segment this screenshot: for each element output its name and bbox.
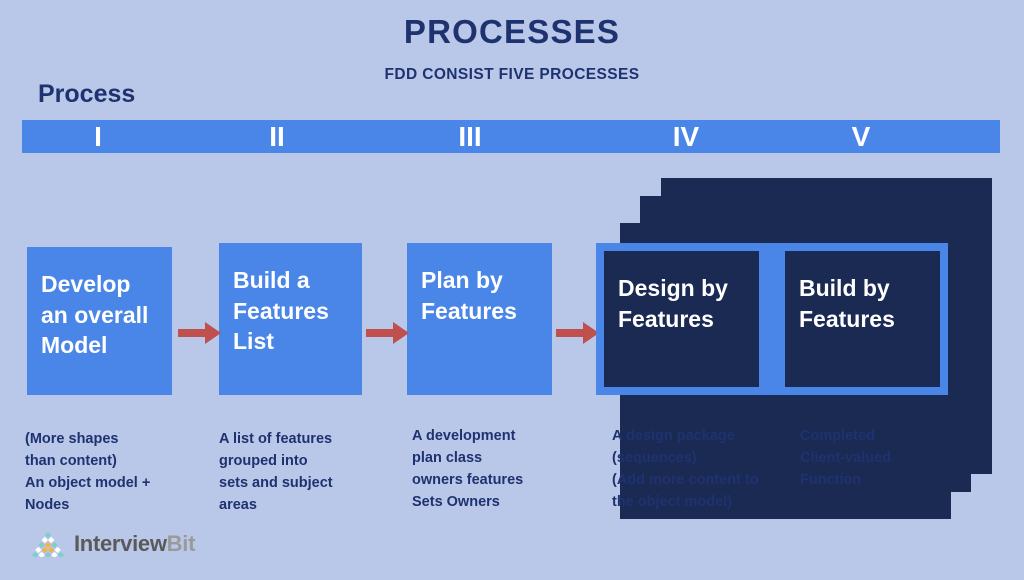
- interviewbit-diamond-logo-icon: [30, 531, 66, 557]
- arrow-1-to-2-icon: [178, 320, 222, 346]
- process-box-develop-an-overall-model[interactable]: Develop an overall Model: [27, 247, 172, 395]
- numeral-1: I: [94, 123, 102, 151]
- page-subtitle: FDD CONSIST FIVE PROCESSES: [0, 66, 1024, 84]
- numeral-4: IV: [673, 123, 699, 151]
- process-box-build-a-features-list[interactable]: Build a Features List: [219, 243, 362, 395]
- logo-wordmark: InterviewBit: [74, 531, 195, 557]
- logo-word-primary: Interview: [74, 531, 167, 556]
- process-label: Process: [38, 80, 135, 109]
- process-box-plan-by-features[interactable]: Plan by Features: [407, 243, 552, 395]
- caption-build-a-features-list: A list of features grouped into sets and…: [219, 428, 409, 516]
- process-box-build-by-features[interactable]: Build by Features: [785, 251, 940, 387]
- numeral-2: II: [269, 123, 285, 151]
- arrow-2-to-3-icon: [366, 320, 410, 346]
- process-box-label: Build a Features List: [233, 265, 350, 357]
- caption-design-by-features: A design package (sequences) (Add more c…: [612, 425, 812, 513]
- caption-develop-an-overall-model: (More shapes than content) An object mod…: [25, 428, 215, 516]
- process-box-label: Plan by Features: [421, 265, 540, 326]
- process-numeral-bar: IIIIIIIVV: [22, 120, 1000, 153]
- process-box-label: Build by Features: [799, 273, 930, 334]
- process-box-label: Develop an overall Model: [41, 269, 160, 361]
- arrow-3-to-4-icon: [556, 320, 600, 346]
- numeral-5: V: [852, 123, 871, 151]
- process-box-label: Design by Features: [618, 273, 749, 334]
- logo-word-secondary: Bit: [167, 531, 195, 556]
- caption-build-by-features: Completed Client-valued Function: [800, 425, 990, 491]
- process-box-design-by-features[interactable]: Design by Features: [604, 251, 759, 387]
- interviewbit-logo: InterviewBit: [30, 531, 195, 557]
- design-build-group[interactable]: Design by Features Build by Features: [596, 243, 948, 395]
- numeral-3: III: [458, 123, 481, 151]
- caption-plan-by-features: A development plan class owners features…: [412, 425, 607, 513]
- page-title: PROCESSES: [0, 13, 1024, 51]
- slide-canvas: PROCESSES FDD CONSIST FIVE PROCESSES Pro…: [0, 0, 1024, 580]
